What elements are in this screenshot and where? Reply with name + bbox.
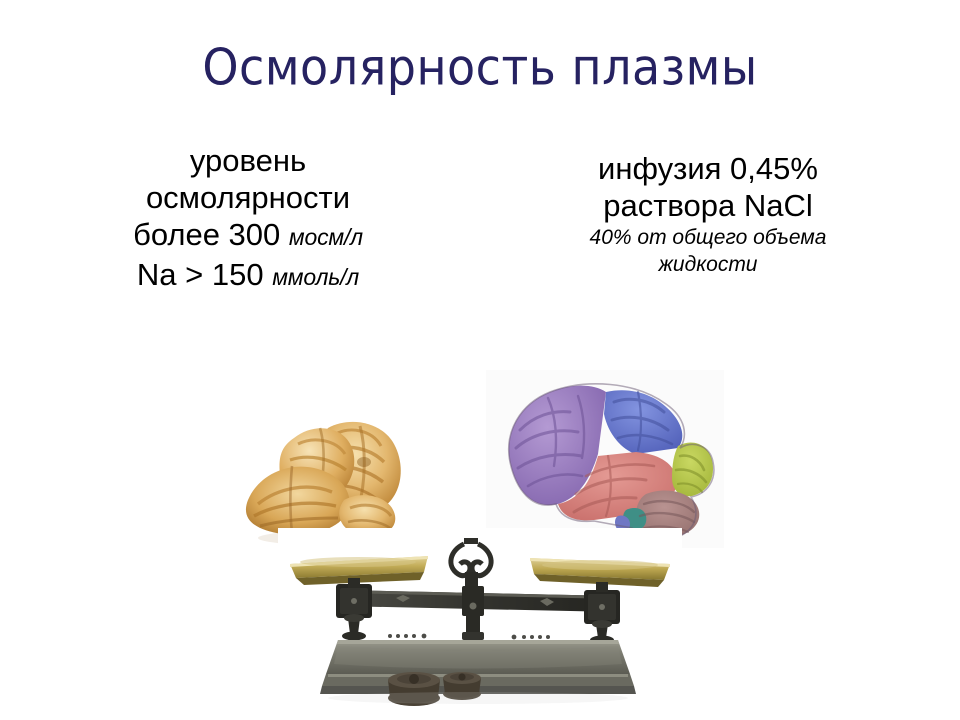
slide-canvas: Осмолярность плазмы уровень осмолярности… (0, 0, 960, 720)
right-line-1: инфузия 0,45% (498, 150, 918, 187)
right-line-2: раствора NaCl (498, 187, 918, 224)
left-line-3: более 300 мосм/л (38, 216, 458, 256)
osmolarity-unit: мосм/л (289, 224, 363, 250)
right-text-block: инфузия 0,45% раствора NaCl 40% от общег… (498, 150, 918, 278)
sodium-value: Na > 150 (137, 257, 264, 292)
left-line-2: осмолярности (38, 179, 458, 216)
left-line-4: Na > 150 ммоль/л (38, 256, 458, 296)
right-subline-1: 40% от общего объема (498, 224, 918, 251)
left-line-1: уровень (38, 142, 458, 179)
osmolarity-value: более 300 (133, 217, 280, 252)
brain-lobes-image (486, 370, 724, 548)
page-title: Осмолярность плазмы (0, 40, 960, 95)
right-subline-2: жидкости (498, 251, 918, 278)
sodium-unit: ммоль/л (272, 264, 359, 290)
left-text-block: уровень осмолярности более 300 мосм/л Na… (38, 142, 458, 296)
balance-scale-image (278, 528, 682, 714)
